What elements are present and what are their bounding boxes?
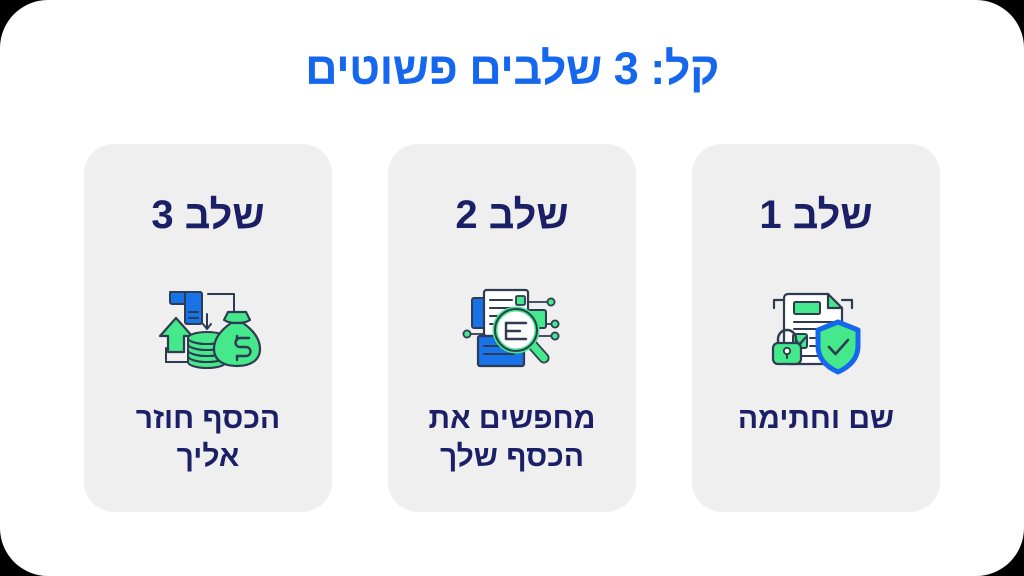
magnifier-documents-search-icon <box>452 276 572 380</box>
step-card-3-caption: הכסף חוזר אליך <box>98 400 318 476</box>
steps-card-row: שלב 1 <box>84 144 940 512</box>
slide-canvas: קל: 3 שלבים פשוטים שלב 1 <box>0 0 1024 576</box>
step-card-3-heading: שלב 3 <box>151 192 264 238</box>
step-card-2[interactable]: שלב 2 <box>388 144 636 512</box>
step-card-2-caption: מחפשים את הכסף שלך <box>402 400 622 476</box>
step-card-2-heading: שלב 2 <box>455 192 568 238</box>
step-card-1-caption: שם וחתימה <box>706 400 926 438</box>
money-bag-coins-return-icon <box>148 276 268 380</box>
page-title: קל: 3 שלבים פשוטים <box>0 40 1024 98</box>
step-card-1[interactable]: שלב 1 <box>692 144 940 512</box>
document-lock-shield-icon <box>756 276 876 380</box>
step-card-3[interactable]: שלב 3 <box>84 144 332 512</box>
step-card-1-heading: שלב 1 <box>759 192 872 238</box>
